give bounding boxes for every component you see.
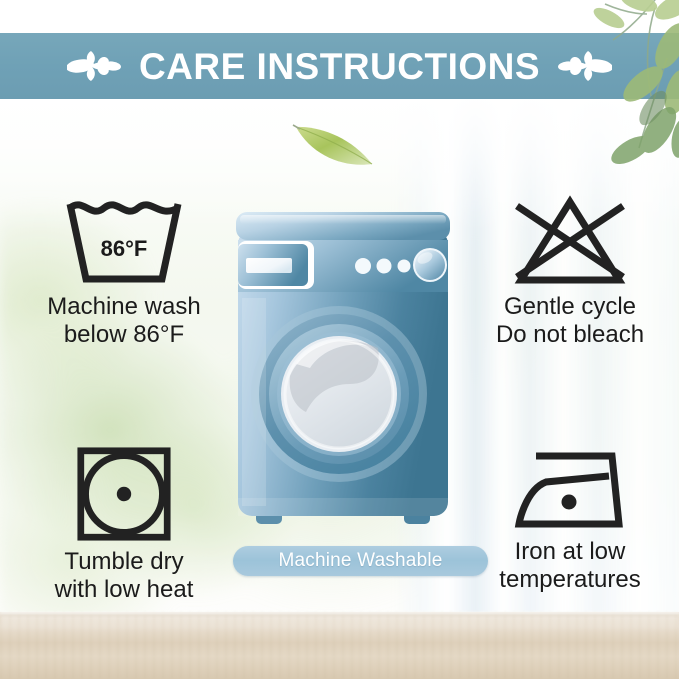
care-symbol-caption: Machine wash below 86°F bbox=[47, 293, 200, 349]
tumble-dry-square-icon bbox=[76, 446, 172, 542]
wash-tub-icon: 86°F bbox=[65, 195, 183, 287]
page-title: CARE INSTRUCTIONS bbox=[139, 48, 540, 85]
wash-temperature-value: 86°F bbox=[65, 236, 183, 262]
care-instructions-graphic: CARE INSTRUCTIONS bbox=[0, 0, 679, 679]
care-symbol-machine-wash: 86°F Machine wash below 86°F bbox=[18, 195, 230, 349]
banner: CARE INSTRUCTIONS bbox=[0, 33, 679, 99]
fleur-de-lis-right-icon bbox=[558, 46, 612, 86]
care-symbol-tumble-dry-low: Tumble dry with low heat bbox=[18, 446, 230, 604]
wood-grain-texture bbox=[0, 612, 679, 679]
iron-icon bbox=[511, 446, 629, 532]
wood-table-surface bbox=[0, 612, 679, 679]
care-symbol-do-not-bleach: Gentle cycle Do not bleach bbox=[470, 195, 670, 349]
care-symbol-caption: Tumble dry with low heat bbox=[55, 548, 194, 604]
status-badge: Machine Washable bbox=[278, 550, 442, 572]
table-edge-highlight bbox=[0, 612, 679, 616]
care-symbol-caption: Iron at low temperatures bbox=[499, 538, 640, 594]
triangle-crossed-out-icon bbox=[511, 195, 629, 287]
care-symbol-iron-low: Iron at low temperatures bbox=[470, 446, 670, 594]
fleur-de-lis-left-icon bbox=[67, 46, 121, 86]
machine-washable-badge: Machine Washable bbox=[233, 546, 488, 576]
washing-machine-illustration bbox=[232, 208, 454, 543]
care-symbol-caption: Gentle cycle Do not bleach bbox=[496, 293, 644, 349]
